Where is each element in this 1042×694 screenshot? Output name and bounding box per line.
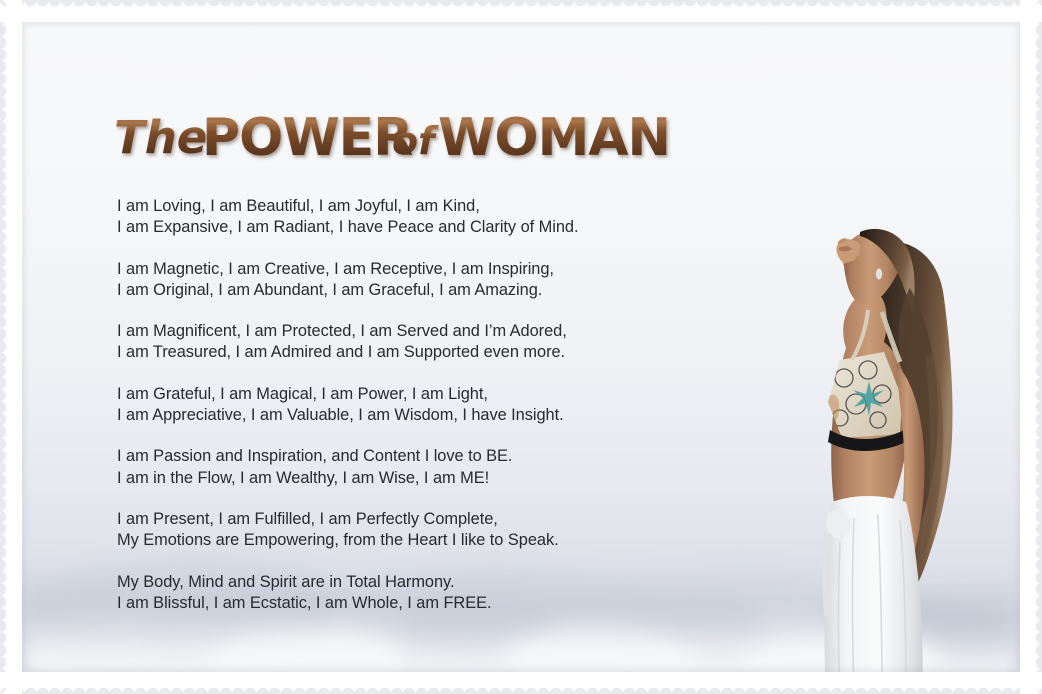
earring [876, 268, 882, 279]
poem-line: I am in the Flow, I am Wealthy, I am Wis… [117, 468, 717, 489]
title-word-the: The [114, 111, 207, 164]
poem-line: I am Original, I am Abundant, I am Grace… [117, 280, 717, 301]
poem-line: I am Loving, I am Beautiful, I am Joyful… [117, 196, 717, 217]
poem-stanza: I am Passion and Inspiration, and Conten… [117, 446, 717, 489]
poem-stanza: I am Magnetic, I am Creative, I am Recep… [117, 259, 717, 302]
poem-line: I am Passion and Inspiration, and Conten… [117, 446, 717, 467]
poem-stanza: My Body, Mind and Spirit are in Total Ha… [117, 572, 717, 615]
poem-line: I am Magnetic, I am Creative, I am Recep… [117, 259, 717, 280]
poem-line: I am Appreciative, I am Valuable, I am W… [117, 405, 717, 426]
poem-stanza: I am Grateful, I am Magical, I am Power,… [117, 384, 717, 427]
poster: The POWER of WOMAN I am Loving, I am Bea… [0, 0, 1042, 694]
title-word-power: POWER [202, 108, 412, 168]
poem-line: I am Expansive, I am Radiant, I have Pea… [117, 217, 717, 238]
woman-figure-illustration [782, 202, 1020, 672]
title-word-woman: WOMAN [438, 108, 670, 168]
poem-line: I am Grateful, I am Magical, I am Power,… [117, 384, 717, 405]
title-word-of: of [392, 119, 439, 163]
poster-canvas: The POWER of WOMAN I am Loving, I am Bea… [22, 22, 1020, 672]
poem-line: My Body, Mind and Spirit are in Total Ha… [117, 572, 717, 593]
poem-text: I am Loving, I am Beautiful, I am Joyful… [117, 196, 717, 614]
poem-line: I am Treasured, I am Admired and I am Su… [117, 342, 717, 363]
poem-line: I am Present, I am Fulfilled, I am Perfe… [117, 509, 717, 530]
poem-stanza: I am Present, I am Fulfilled, I am Perfe… [117, 509, 717, 552]
poem-stanza: I am Loving, I am Beautiful, I am Joyful… [117, 196, 717, 239]
poem-line: I am Blissful, I am Ecstatic, I am Whole… [117, 593, 717, 614]
poem-line: I am Magnificent, I am Protected, I am S… [117, 321, 717, 342]
page-title: The POWER of WOMAN [114, 100, 614, 172]
poem-line: My Emotions are Empowering, from the Hea… [117, 530, 717, 551]
poem-stanza: I am Magnificent, I am Protected, I am S… [117, 321, 717, 364]
